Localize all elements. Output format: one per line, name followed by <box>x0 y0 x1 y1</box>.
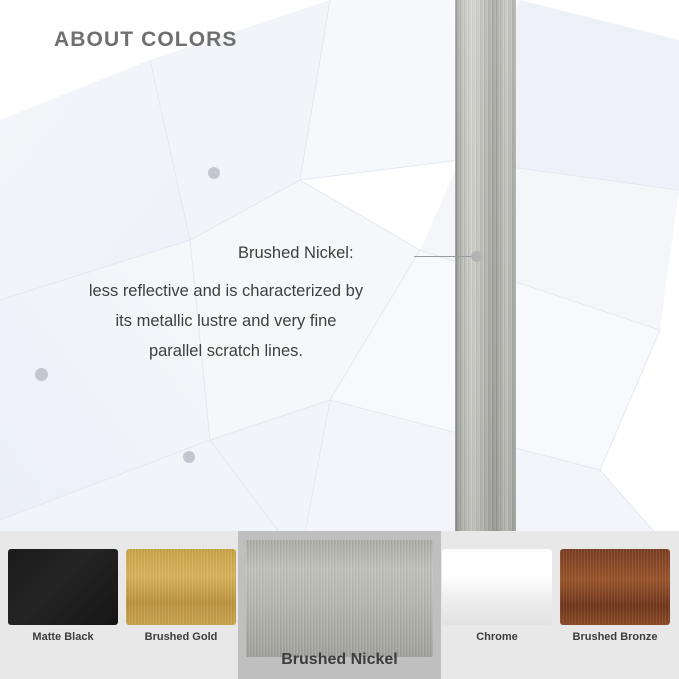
swatch-chip-brushed-gold <box>126 549 236 625</box>
swatch-label-brushed-gold: Brushed Gold <box>126 631 236 643</box>
callout-description: less reflective and is characterized by … <box>40 276 412 366</box>
callout-target-dot <box>471 251 482 262</box>
callout-leader-line <box>414 256 476 257</box>
swatch-brushed-nickel-selected[interactable]: Brushed Nickel <box>238 531 441 679</box>
swatch-matte-black[interactable]: Matte Black <box>8 549 118 643</box>
swatch-label-matte-black: Matte Black <box>8 631 118 643</box>
page-title: ABOUT COLORS <box>54 28 238 52</box>
swatch-chip-brushed-bronze <box>560 549 670 625</box>
callout-description-line-2: its metallic lustre and very fine <box>40 306 412 336</box>
swatch-band: Matte Black Brushed Gold Chrome Brushed … <box>0 531 679 679</box>
swatch-chip-matte-black <box>8 549 118 625</box>
swatch-chrome[interactable]: Chrome <box>442 549 552 643</box>
swatch-brushed-gold[interactable]: Brushed Gold <box>126 549 236 643</box>
swatch-label-chrome: Chrome <box>442 631 552 643</box>
brushed-nickel-sample-strip <box>455 0 516 535</box>
decorative-dot-2 <box>35 368 48 381</box>
decorative-dot-1 <box>208 167 220 179</box>
swatch-chip-chrome <box>442 549 552 625</box>
swatch-chip-brushed-nickel <box>246 540 433 657</box>
callout-description-line-3: parallel scratch lines. <box>40 336 412 366</box>
decorative-dot-3 <box>183 451 195 463</box>
swatch-brushed-bronze[interactable]: Brushed Bronze <box>560 549 670 643</box>
callout-description-line-1: less reflective and is characterized by <box>40 276 412 306</box>
callout-title: Brushed Nickel: <box>238 244 354 263</box>
about-colors-infographic: ABOUT COLORS Brushed Nickel: less reflec… <box>0 0 679 679</box>
swatch-label-brushed-nickel: Brushed Nickel <box>238 651 441 669</box>
swatch-label-brushed-bronze: Brushed Bronze <box>560 631 670 643</box>
